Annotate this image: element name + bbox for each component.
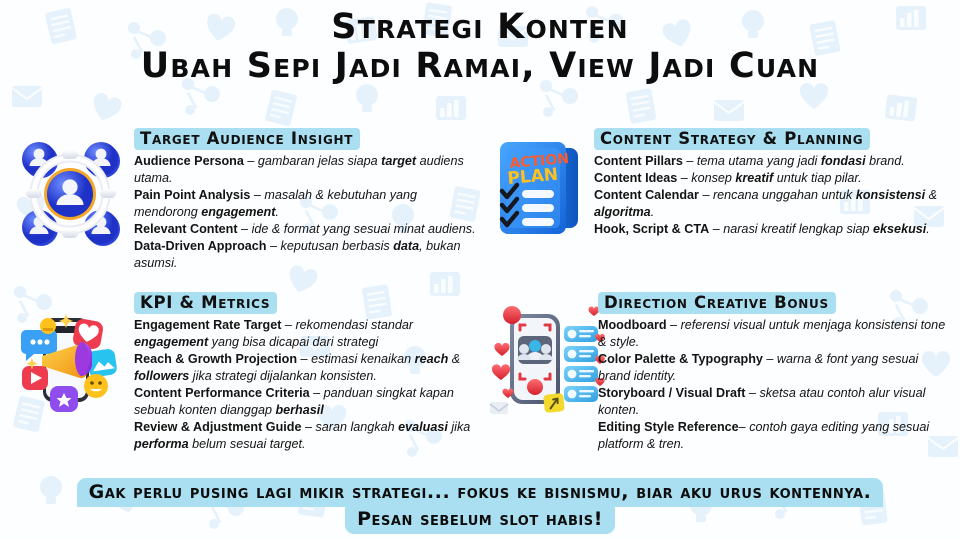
dash: – (745, 386, 759, 400)
desc: ide & format yang sesuai minat audiens. (252, 222, 476, 236)
emphasis: target (381, 154, 416, 168)
desc: rencana unggahan untuk (713, 188, 856, 202)
desc: estimasi kenaikan (311, 352, 415, 366)
term: Hook, Script & CTA (594, 222, 709, 236)
dash: – (301, 420, 315, 434)
desc: jika (448, 420, 470, 434)
desc: tema utama yang jadi (697, 154, 821, 168)
term: Engagement Rate Target (134, 318, 281, 332)
desc: belum sesuai target. (189, 437, 306, 451)
desc: rekomendasi standar (295, 318, 413, 332)
section-body: Moodboard – referensi visual untuk menja… (598, 317, 954, 453)
cta-banner-line-2: Pesan sebelum slot habis! (345, 505, 615, 534)
emphasis: data (393, 239, 419, 253)
term: Review & Adjustment Guide (134, 420, 301, 434)
desc: jika strategi dijalankan konsisten. (189, 369, 377, 383)
dash: – (739, 420, 750, 434)
term: Audience Persona (134, 154, 244, 168)
dash: – (763, 352, 777, 366)
desc: keputusan berbasis (281, 239, 394, 253)
emphasis: kreatif (735, 171, 773, 185)
social-media-megaphone-icon (12, 298, 130, 420)
term: Data-Driven Approach (134, 239, 267, 253)
section-text-kpi-metrics: KPI & Metrics Engagement Rate Target – r… (134, 292, 482, 453)
desc: & (925, 188, 937, 202)
emphasis: evaluasi (398, 420, 448, 434)
emphasis: algoritma (594, 205, 651, 219)
dash: – (699, 188, 713, 202)
emphasis: berhasil (275, 403, 323, 417)
section-heading: KPI & Metrics (134, 292, 277, 314)
emphasis: followers (134, 369, 189, 383)
emphasis: fondasi (821, 154, 866, 168)
term: Moodboard (598, 318, 667, 332)
emphasis: konsistensi (856, 188, 925, 202)
term: Pain Point Analysis (134, 188, 250, 202)
page-title-line-2: Ubah Sepi Jadi Ramai, View Jadi Cuan (0, 47, 960, 86)
dash: – (250, 188, 264, 202)
dash: – (709, 222, 723, 236)
desc: . (651, 205, 655, 219)
page-title: Strategi Konten Ubah Sepi Jadi Ramai, Vi… (0, 8, 960, 86)
dash: – (281, 318, 295, 332)
desc: konsep (691, 171, 735, 185)
section-text-content-strategy-planning: Content Strategy & Planning Content Pill… (594, 128, 956, 238)
desc: gambaran jelas siapa (258, 154, 381, 168)
dash: – (667, 318, 681, 332)
dash: – (677, 171, 691, 185)
desc: brand. (866, 154, 905, 168)
desc: narasi kreatif lengkap siap (723, 222, 873, 236)
section-text-target-audience-insight: Target Audience Insight Audience Persona… (134, 128, 478, 272)
desc: . (275, 205, 279, 219)
desc: & (448, 352, 460, 366)
dash: – (267, 239, 281, 253)
dash: – (297, 352, 311, 366)
term: Storyboard / Visual Draft (598, 386, 745, 400)
action-plan-book-icon: ACTION PLAN (484, 128, 602, 250)
dash: – (310, 386, 324, 400)
term: Color Palette & Typography (598, 352, 763, 366)
term: Reach & Growth Projection (134, 352, 297, 366)
phone-content-cards-icon (488, 298, 606, 420)
audience-network-icon (12, 132, 130, 254)
section-text-direction-creative-bonus: Direction Creative Bonus Moodboard – ref… (598, 292, 954, 453)
emphasis: eksekusi (873, 222, 926, 236)
cta-banner-line-1: Gak perlu pusing lagi mikir strategi... … (77, 478, 884, 507)
section-body: Content Pillars – tema utama yang jadi f… (594, 153, 956, 238)
desc: saran langkah (316, 420, 399, 434)
section-heading: Target Audience Insight (134, 128, 360, 150)
page-title-line-1: Strategi Konten (0, 8, 960, 47)
cta-banner: Gak perlu pusing lagi mikir strategi... … (0, 478, 960, 534)
term: Editing Style Reference (598, 420, 739, 434)
desc: untuk tiap pilar. (773, 171, 861, 185)
section-heading: Content Strategy & Planning (594, 128, 870, 150)
dash: – (244, 154, 258, 168)
dash: – (238, 222, 252, 236)
term: Content Pillars (594, 154, 683, 168)
section-body: Engagement Rate Target – rekomendasi sta… (134, 317, 482, 453)
desc: . (926, 222, 930, 236)
emphasis: engagement (134, 335, 208, 349)
desc: yang bisa dicapai dari strategi (208, 335, 378, 349)
term: Content Performance Criteria (134, 386, 310, 400)
section-body: Audience Persona – gambaran jelas siapa … (134, 153, 478, 272)
emphasis: performa (134, 437, 189, 451)
term: Content Ideas (594, 171, 677, 185)
term: Relevant Content (134, 222, 238, 236)
emphasis: reach (415, 352, 449, 366)
section-heading: Direction Creative Bonus (598, 292, 836, 314)
dash: – (683, 154, 697, 168)
term: Content Calendar (594, 188, 699, 202)
emphasis: engagement (201, 205, 275, 219)
